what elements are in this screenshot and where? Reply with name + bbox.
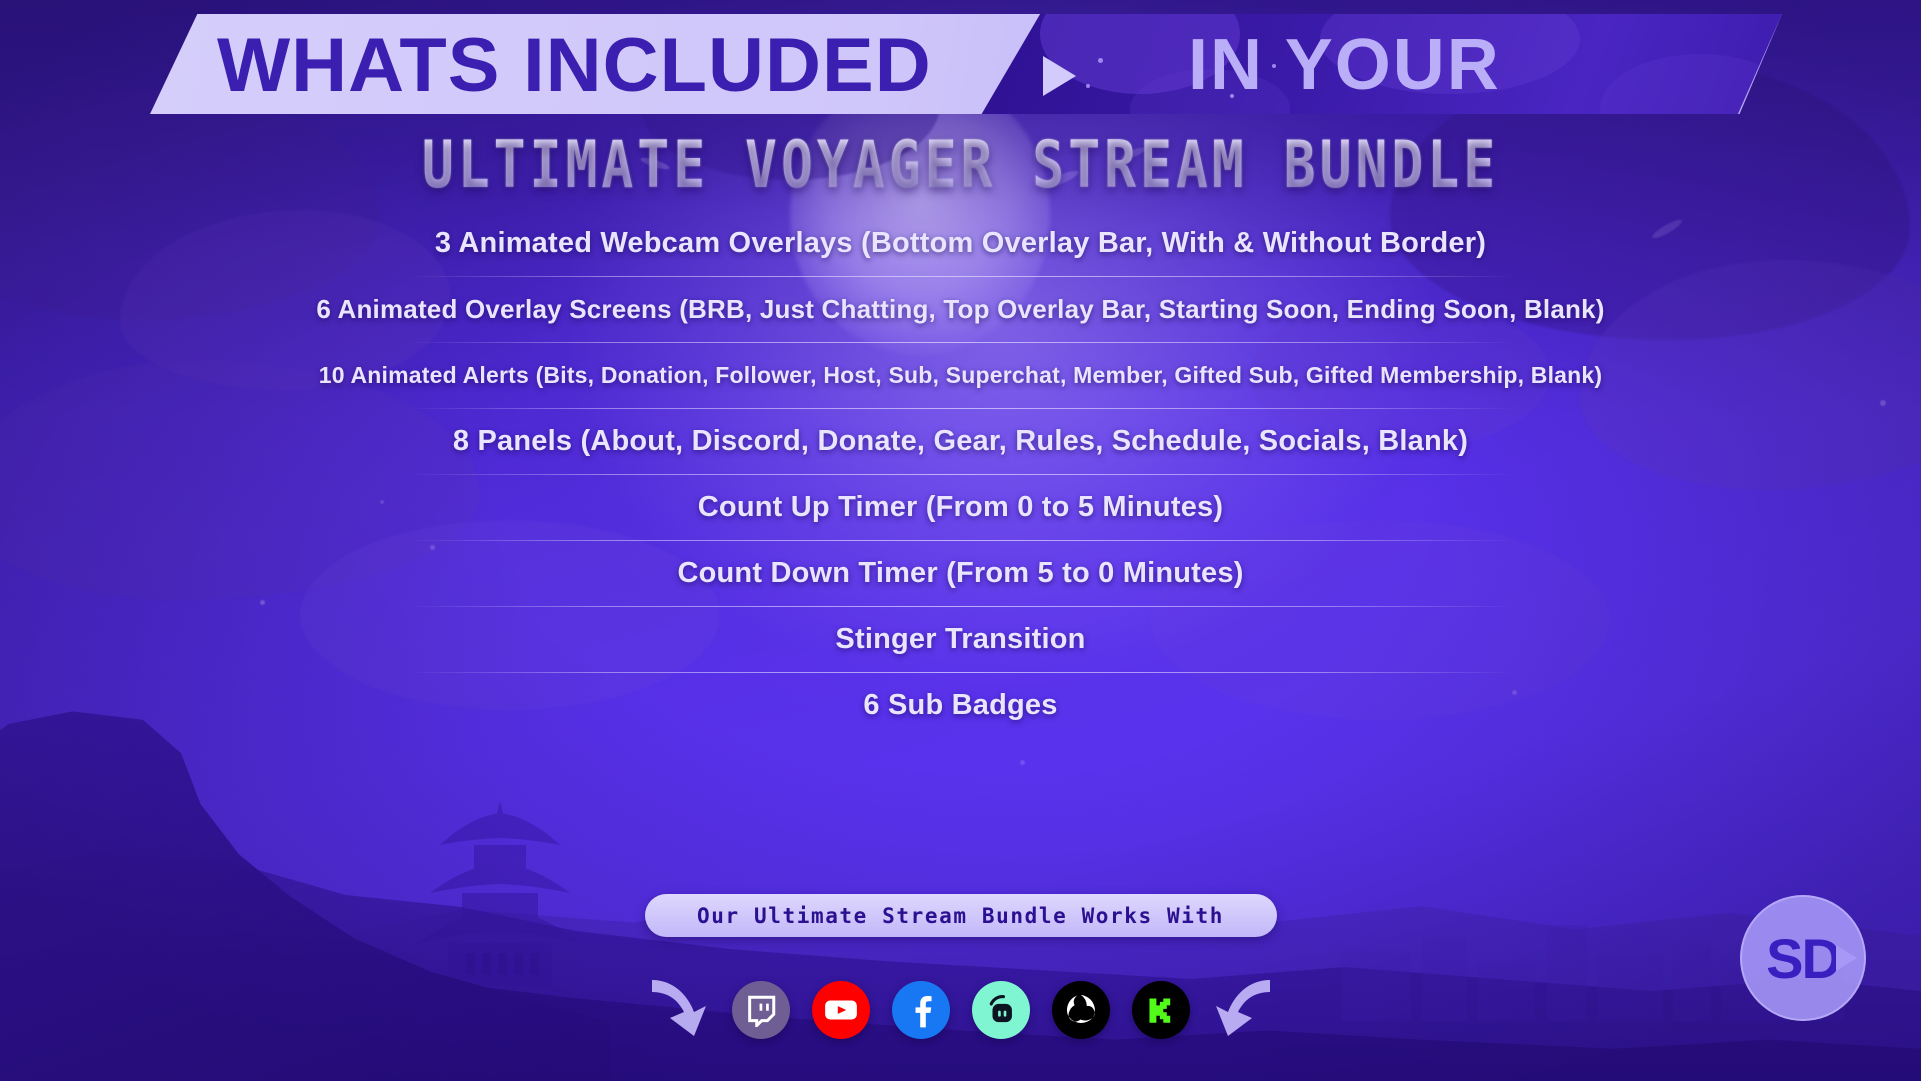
feature-row: Count Down Timer (From 5 to 0 Minutes) bbox=[0, 540, 1921, 606]
feature-label: Count Up Timer (From 0 to 5 Minutes) bbox=[698, 491, 1223, 524]
feature-row: 6 Animated Overlay Screens (BRB, Just Ch… bbox=[0, 276, 1921, 342]
feature-row: 8 Panels (About, Discord, Donate, Gear, … bbox=[0, 408, 1921, 474]
facebook-glyph bbox=[905, 992, 937, 1028]
twitch-icon[interactable] bbox=[732, 981, 790, 1039]
feature-label: 6 Sub Badges bbox=[863, 689, 1057, 722]
youtube-icon[interactable] bbox=[812, 981, 870, 1039]
feature-row: 10 Animated Alerts (Bits, Donation, Foll… bbox=[0, 342, 1921, 408]
feature-label: 10 Animated Alerts (Bits, Donation, Foll… bbox=[319, 362, 1603, 389]
page-title: WHATS INCLUDED bbox=[217, 22, 932, 109]
poster-canvas: WHATS INCLUDED IN YOUR ULTIMATE VOYAGER … bbox=[0, 0, 1921, 1081]
kick-glyph bbox=[1146, 995, 1176, 1025]
works-with-banner: Our Ultimate Stream Bundle Works With bbox=[645, 894, 1277, 937]
youtube-glyph bbox=[823, 997, 859, 1023]
page-title-secondary: IN YOUR bbox=[1188, 24, 1501, 106]
feature-row: 3 Animated Webcam Overlays (Bottom Overl… bbox=[0, 210, 1921, 276]
feature-label: 6 Animated Overlay Screens (BRB, Just Ch… bbox=[316, 294, 1604, 325]
feature-label: Count Down Timer (From 5 to 0 Minutes) bbox=[677, 557, 1243, 590]
feature-row: Count Up Timer (From 0 to 5 Minutes) bbox=[0, 474, 1921, 540]
sd-play-logo-icon bbox=[1836, 945, 1857, 971]
arrow-left-curved-icon bbox=[1212, 974, 1278, 1046]
feature-label: 3 Animated Webcam Overlays (Bottom Overl… bbox=[435, 227, 1486, 260]
arrow-right-curved-icon bbox=[644, 974, 710, 1046]
streamlabs-glyph bbox=[984, 993, 1018, 1027]
feature-list: 3 Animated Webcam Overlays (Bottom Overl… bbox=[0, 210, 1921, 738]
twitch-glyph bbox=[744, 993, 778, 1027]
brand-logo-text: SD bbox=[1766, 926, 1840, 991]
obs-glyph bbox=[1061, 990, 1101, 1030]
feature-row: Stinger Transition bbox=[0, 606, 1921, 672]
streamlabs-icon[interactable] bbox=[972, 981, 1030, 1039]
kick-icon[interactable] bbox=[1132, 981, 1190, 1039]
works-with-label: Our Ultimate Stream Bundle Works With bbox=[697, 904, 1224, 928]
obs-icon[interactable] bbox=[1052, 981, 1110, 1039]
feature-label: Stinger Transition bbox=[835, 623, 1085, 656]
header-banner: WHATS INCLUDED IN YOUR bbox=[150, 14, 1782, 114]
play-triangle-icon bbox=[1043, 56, 1076, 96]
platform-icon-row bbox=[611, 960, 1311, 1060]
feature-row: 6 Sub Badges bbox=[0, 672, 1921, 738]
brand-logo[interactable]: SD bbox=[1740, 895, 1866, 1021]
feature-label: 8 Panels (About, Discord, Donate, Gear, … bbox=[453, 425, 1468, 458]
bundle-subtitle: ULTIMATE VOYAGER STREAM BUNDLE bbox=[0, 128, 1921, 202]
facebook-icon[interactable] bbox=[892, 981, 950, 1039]
